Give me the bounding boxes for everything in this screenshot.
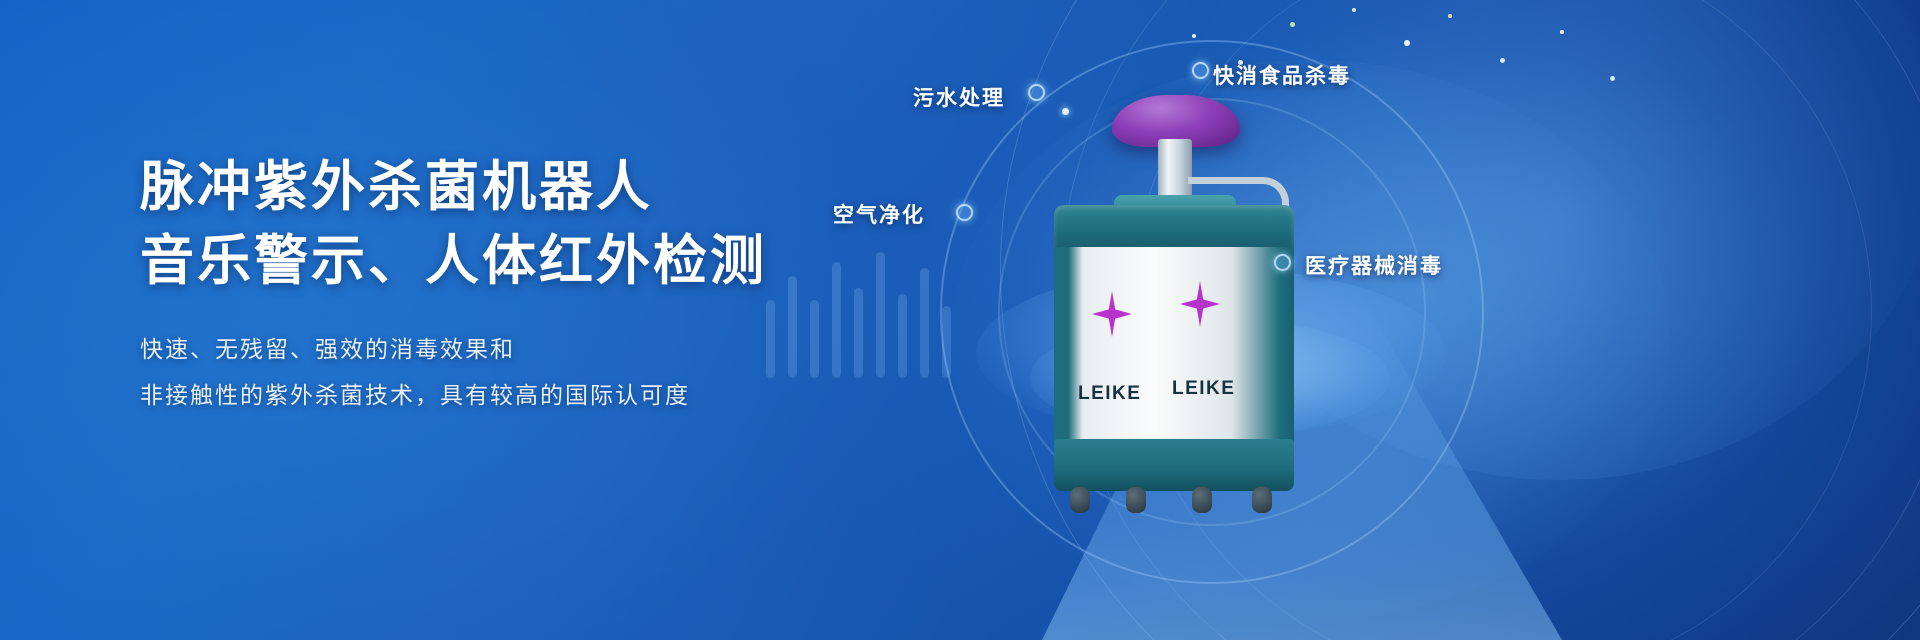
- robot-wheel: [1192, 487, 1212, 513]
- callout-node-fmcg-food-sterilization: [1192, 62, 1209, 79]
- product-scene: LEIKE LEIKE: [880, 0, 1920, 640]
- brand-logo-right: LEIKE: [1172, 378, 1235, 400]
- callout-label-sewage-treatment: 污水处理: [913, 82, 1005, 112]
- hero-copy: 脉冲紫外杀菌机器人 音乐警示、人体红外检测 快速、无残留、强效的消毒效果和 非接…: [140, 150, 900, 418]
- robot-base: [1054, 439, 1294, 491]
- subtitle-line-1: 快速、无残留、强效的消毒效果和: [140, 326, 900, 372]
- robot-wheel: [1252, 487, 1272, 513]
- product-hero-banner: 脉冲紫外杀菌机器人 音乐警示、人体红外检测 快速、无残留、强效的消毒效果和 非接…: [0, 0, 1920, 640]
- headline-line-2: 音乐警示、人体红外检测: [140, 224, 900, 298]
- robot-body-panel: [1054, 247, 1294, 447]
- uv-disinfection-robot: LEIKE LEIKE: [1040, 95, 1370, 515]
- robot-wheel: [1070, 487, 1090, 513]
- brand-logo-left: LEIKE: [1078, 383, 1141, 405]
- subtitle-line-2: 非接触性的紫外杀菌技术，具有较高的国际认可度: [140, 372, 900, 418]
- callout-label-air-purification: 空气净化: [833, 199, 925, 229]
- callout-label-fmcg-food-sterilization: 快消食品杀毒: [1213, 60, 1351, 90]
- callout-label-medical-device-disinfection: 医疗器械消毒: [1305, 250, 1443, 280]
- callout-node-medical-device-disinfection: [1274, 254, 1291, 271]
- robot-shoulder: [1054, 205, 1294, 253]
- callout-node-air-purification: [956, 204, 973, 221]
- headline-line-1: 脉冲紫外杀菌机器人: [140, 150, 900, 224]
- callout-node-sewage-treatment: [1028, 84, 1045, 101]
- subtitle-block: 快速、无残留、强效的消毒效果和 非接触性的紫外杀菌技术，具有较高的国际认可度: [140, 326, 900, 418]
- callout-connector-dot: [1062, 108, 1069, 115]
- robot-wheel: [1126, 487, 1146, 513]
